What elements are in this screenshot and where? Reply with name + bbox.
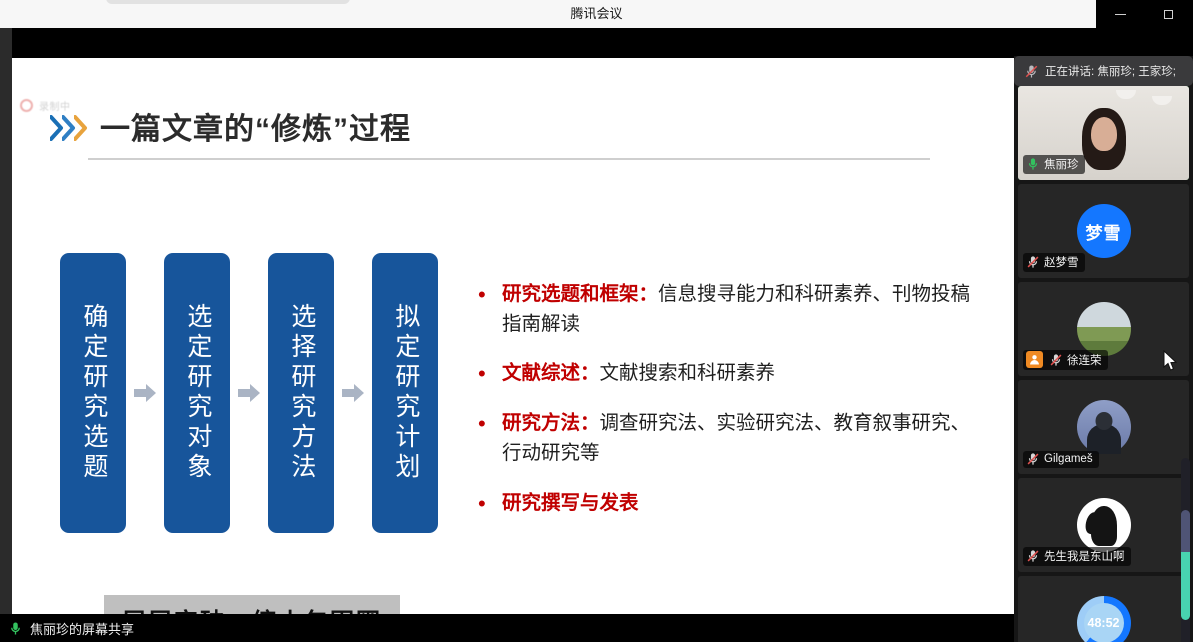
- mic-muted-icon: [1026, 452, 1040, 466]
- minimize-button[interactable]: [1103, 0, 1137, 28]
- app-title: 腾讯会议: [0, 0, 1193, 28]
- mic-muted-icon: [1049, 353, 1063, 367]
- shared-screen-slide[interactable]: 录制中 一篇文章的“修炼”过程 确定研究选题 选定研究对象 选择研究方法: [12, 58, 1014, 614]
- bullet-dot-icon: •: [478, 489, 502, 519]
- flow-box-2-label: 选定研究对象: [180, 303, 214, 483]
- participant-tile[interactable]: 梦雪 赵梦雪: [1018, 184, 1189, 278]
- bullet-text: 研究选题和框架：信息搜寻能力和科研素养、刊物投稿指南解读: [502, 280, 978, 339]
- process-flow: 确定研究选题 选定研究对象 选择研究方法 拟定研究计划: [60, 253, 438, 533]
- participant-name: 焦丽珍: [1044, 156, 1079, 172]
- bullet-list: • 研究选题和框架：信息搜寻能力和科研素养、刊物投稿指南解读 • 文献综述：文献…: [478, 280, 978, 539]
- meeting-stage: 录制中 一篇文章的“修炼”过程 确定研究选题 选定研究对象 选择研究方法: [0, 28, 1193, 614]
- flow-box-3: 选择研究方法: [268, 253, 334, 533]
- title-chevron-icon: [50, 115, 86, 141]
- record-dot-icon: [20, 99, 33, 112]
- participant-scrollbar[interactable]: [1181, 458, 1190, 642]
- bullet-heading: 文献综述：: [502, 362, 600, 384]
- speaking-banner: 正在讲话: 焦丽珍; 王家珍;: [1014, 56, 1193, 86]
- flow-arrow-2-icon: [230, 384, 268, 402]
- participant-name: Gilgameš: [1044, 453, 1093, 465]
- flow-box-4: 拟定研究计划: [372, 253, 438, 533]
- share-status-bar: 焦丽珍的屏幕共享: [0, 614, 1014, 642]
- flow-box-4-label: 拟定研究计划: [388, 303, 422, 483]
- participant-namebar: 赵梦雪: [1023, 253, 1085, 272]
- participant-tile[interactable]: 先生我是东山啊: [1018, 478, 1189, 572]
- person-face: [1082, 108, 1126, 170]
- slide-caption: 层层突破，缩小包围圈: [104, 595, 400, 614]
- participant-name: 赵梦雪: [1044, 254, 1079, 270]
- host-badge-icon: [1026, 351, 1043, 368]
- mic-muted-icon: [1026, 255, 1040, 269]
- mic-muted-icon: [1026, 549, 1040, 563]
- participant-name: 先生我是东山啊: [1044, 548, 1125, 564]
- mic-active-icon: [1026, 157, 1040, 171]
- bullet-dot-icon: •: [478, 359, 502, 389]
- participant-scrollbar-thumb[interactable]: [1181, 510, 1190, 620]
- participant-namebar: 先生我是东山啊: [1023, 547, 1131, 566]
- slide-caption-text: 层层突破，缩小包围圈: [122, 602, 382, 614]
- bullet-heading: 研究选题和框架：: [502, 283, 658, 305]
- bullet-text: 文献综述：文献搜索和科研素养: [502, 359, 775, 389]
- share-status-text: 焦丽珍的屏幕共享: [30, 619, 134, 638]
- tencent-meeting-window: 腾讯会议 录制中 一篇文章的“修炼”过程 确定研究选题: [0, 0, 1193, 642]
- flow-box-2: 选定研究对象: [164, 253, 230, 533]
- decor-lamp-icon: [1116, 90, 1136, 99]
- speaking-banner-text: 正在讲话: 焦丽珍; 王家珍;: [1045, 63, 1176, 79]
- participant-tile[interactable]: 48:52 赵子轩: [1018, 576, 1189, 642]
- recording-indicator: 录制中: [20, 98, 71, 113]
- stage-left-strip: [0, 28, 12, 614]
- avatar-initials: 梦雪: [1086, 219, 1122, 244]
- flow-box-3-label: 选择研究方法: [284, 303, 318, 483]
- bullet-body: 文献搜索和科研素养: [600, 362, 776, 384]
- avatar: 48:52: [1077, 596, 1131, 642]
- participant-namebar: 徐连荣: [1023, 350, 1108, 370]
- flow-box-1-label: 确定研究选题: [76, 303, 110, 483]
- participant-namebar: Gilgameš: [1023, 451, 1099, 468]
- bullet-text: 研究方法：调查研究法、实验研究法、教育叙事研究、行动研究等: [502, 409, 978, 468]
- bullet-item: • 研究选题和框架：信息搜寻能力和科研素养、刊物投稿指南解读: [478, 280, 978, 339]
- participant-namebar: 焦丽珍: [1023, 155, 1085, 174]
- mic-muted-icon: [1024, 64, 1039, 79]
- bullet-dot-icon: •: [478, 409, 502, 468]
- title-divider: [88, 158, 930, 160]
- window-controls: [1096, 0, 1193, 28]
- flow-box-1: 确定研究选题: [60, 253, 126, 533]
- bullet-heading: 研究方法：: [502, 412, 600, 434]
- participant-tile[interactable]: Gilgameš: [1018, 380, 1189, 474]
- avatar: [1077, 302, 1131, 356]
- avatar: [1077, 498, 1131, 552]
- avatar-figure: [1091, 506, 1117, 546]
- maximize-icon: [1164, 10, 1173, 19]
- participant-tile[interactable]: 焦丽珍: [1018, 86, 1189, 180]
- window-titlebar: 腾讯会议: [0, 0, 1193, 28]
- bullet-item: • 文献综述：文献搜索和科研素养: [478, 359, 978, 389]
- bullet-item: • 研究方法：调查研究法、实验研究法、教育叙事研究、行动研究等: [478, 409, 978, 468]
- bullet-heading: 研究撰写与发表: [502, 492, 639, 514]
- bullet-text: 研究撰写与发表: [502, 489, 639, 519]
- avatar: 梦雪: [1077, 204, 1131, 258]
- avatar: [1077, 400, 1131, 454]
- bullet-dot-icon: •: [478, 280, 502, 339]
- flow-arrow-3-icon: [334, 384, 372, 402]
- participant-name: 徐连荣: [1067, 352, 1102, 368]
- bullet-item: • 研究撰写与发表: [478, 489, 978, 519]
- maximize-button[interactable]: [1152, 0, 1186, 28]
- flow-arrow-1-icon: [126, 384, 164, 402]
- avatar-timer-text: 48:52: [1084, 603, 1124, 642]
- mic-green-icon: [8, 621, 23, 636]
- minimize-icon: [1115, 14, 1126, 15]
- slide-title: 一篇文章的“修炼”过程: [100, 104, 411, 148]
- decor-lamp-icon: [1152, 96, 1172, 105]
- mouse-cursor: [1163, 350, 1177, 372]
- recording-label: 录制中: [39, 98, 71, 113]
